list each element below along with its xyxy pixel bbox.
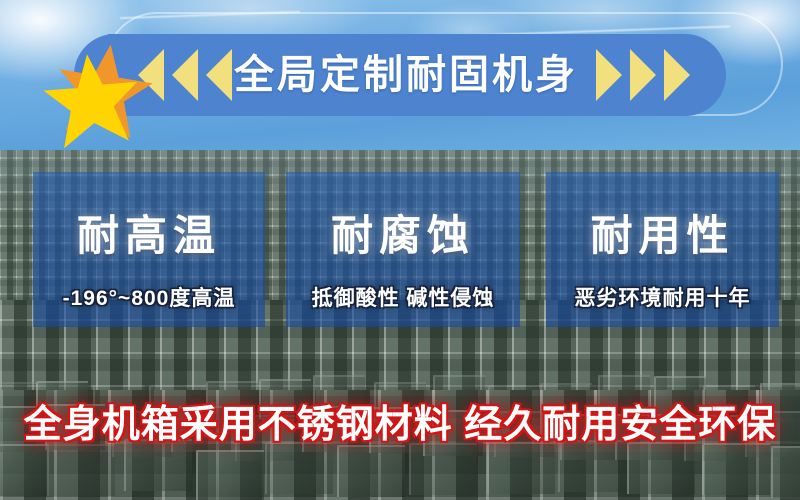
feature-panel-3: 耐用性 恶劣环境耐用十年	[546, 172, 779, 327]
star-front-layer	[39, 49, 145, 155]
page-title: 全局定制耐固机身	[228, 46, 584, 104]
bottom-banner-text: 全身机箱采用不锈钢材料 经久耐用安全环保	[0, 396, 800, 454]
star-burst-icon	[44, 44, 148, 150]
feature-panel-2: 耐腐蚀 抵御酸性 碱性侵蚀	[286, 172, 520, 327]
promo-banner-image: 全局定制耐固机身 耐高温 -196°~800度高温 耐腐蚀 抵御酸性 碱性侵蚀 …	[0, 0, 800, 500]
feature-subtitle: 恶劣环境耐用十年	[546, 282, 779, 312]
feature-title: 耐高温	[33, 202, 265, 263]
feature-subtitle: -196°~800度高温	[33, 282, 265, 312]
feature-title: 耐用性	[546, 202, 779, 263]
feature-panel-1: 耐高温 -196°~800度高温	[33, 172, 265, 327]
feature-subtitle: 抵御酸性 碱性侵蚀	[286, 282, 520, 312]
feature-title: 耐腐蚀	[286, 202, 520, 263]
